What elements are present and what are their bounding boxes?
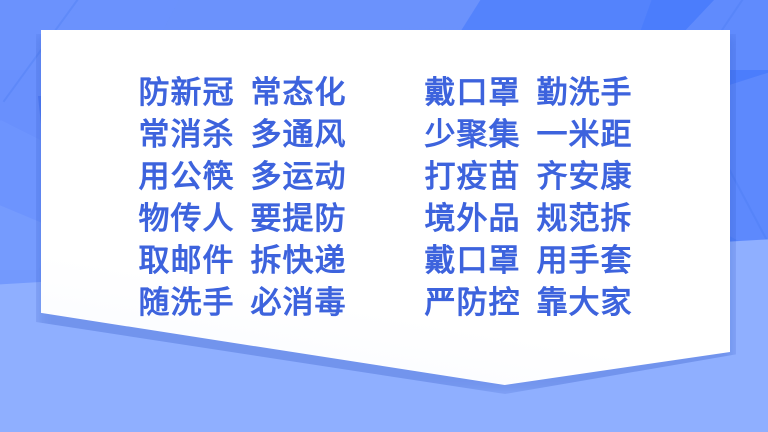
slogan-phrase-first: 随洗手	[139, 284, 235, 322]
slogan-phrase-first: 常消杀	[139, 116, 235, 154]
slogan-line: 严防控 靠大家	[425, 284, 633, 322]
slogan-phrase-first: 用公筷	[139, 158, 235, 196]
slogan-phrase-second: 要提防	[251, 200, 347, 238]
slogan-phrase-second: 必消毒	[251, 284, 347, 322]
slogan-phrase-first: 取邮件	[139, 242, 235, 280]
slogan-phrase-first: 物传人	[139, 200, 235, 238]
slogan-phrase-second: 拆快递	[251, 242, 347, 280]
slogan-line: 戴口罩 勤洗手	[425, 74, 633, 112]
slogan-columns: 防新冠 常态化 常消杀 多通风 用公筷 多运动 物传人 要提防 取邮件 拆快递 …	[41, 30, 730, 330]
slogan-phrase-second: 齐安康	[537, 158, 633, 196]
slogan-phrase-second: 常态化	[251, 74, 347, 112]
slogan-phrase-second: 一米距	[537, 116, 633, 154]
slogan-line: 用公筷 多运动	[139, 158, 347, 196]
slogan-phrase-first: 严防控	[425, 284, 521, 322]
slogan-phrase-second: 勤洗手	[537, 74, 633, 112]
slogan-column-left: 防新冠 常态化 常消杀 多通风 用公筷 多运动 物传人 要提防 取邮件 拆快递 …	[139, 74, 347, 322]
slogan-phrase-second: 多运动	[251, 158, 347, 196]
slogan-line: 物传人 要提防	[139, 200, 347, 238]
slogan-poster: 防新冠 常态化 常消杀 多通风 用公筷 多运动 物传人 要提防 取邮件 拆快递 …	[0, 0, 768, 432]
slogan-phrase-first: 打疫苗	[425, 158, 521, 196]
slogan-line: 随洗手 必消毒	[139, 284, 347, 322]
slogan-line: 防新冠 常态化	[139, 74, 347, 112]
slogan-phrase-first: 戴口罩	[425, 74, 521, 112]
slogan-column-right: 戴口罩 勤洗手 少聚集 一米距 打疫苗 齐安康 境外品 规范拆 戴口罩 用手套 …	[425, 74, 633, 322]
slogan-phrase-first: 戴口罩	[425, 242, 521, 280]
slogan-line: 常消杀 多通风	[139, 116, 347, 154]
slogan-phrase-first: 防新冠	[139, 74, 235, 112]
slogan-line: 打疫苗 齐安康	[425, 158, 633, 196]
slogan-line: 戴口罩 用手套	[425, 242, 633, 280]
slogan-phrase-second: 规范拆	[537, 200, 633, 238]
slogan-phrase-first: 境外品	[425, 200, 521, 238]
slogan-line: 境外品 规范拆	[425, 200, 633, 238]
slogan-phrase-second: 用手套	[537, 242, 633, 280]
slogan-phrase-second: 多通风	[251, 116, 347, 154]
slogan-line: 取邮件 拆快递	[139, 242, 347, 280]
slogan-line: 少聚集 一米距	[425, 116, 633, 154]
slogan-phrase-second: 靠大家	[537, 284, 633, 322]
slogan-phrase-first: 少聚集	[425, 116, 521, 154]
